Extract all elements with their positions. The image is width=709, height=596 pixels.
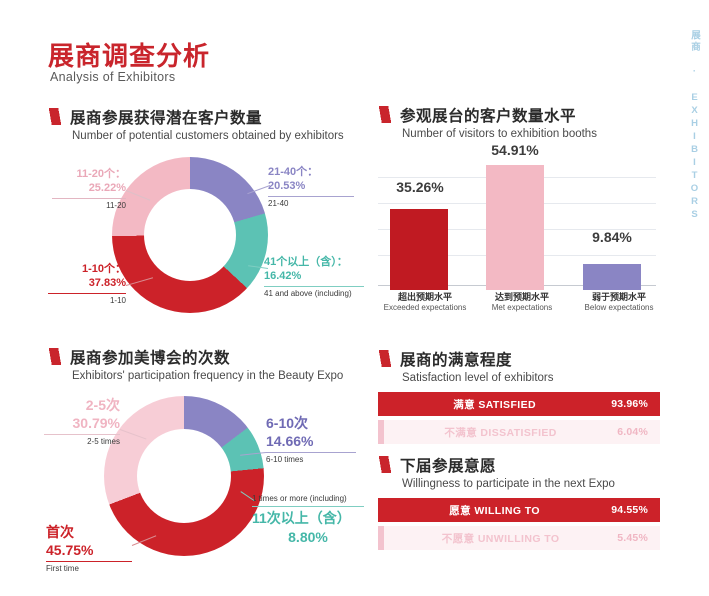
bar-value-met: 54.91% xyxy=(472,142,558,158)
section-title-en: Number of visitors to exhibition booths xyxy=(402,128,597,140)
callout-sublabel: 6-10 times xyxy=(266,455,356,465)
callout-category: 2-5次 xyxy=(44,396,120,414)
bar-value-below: 9.84% xyxy=(569,229,655,245)
side-vertical-label: 展商 · EXHIBITORS xyxy=(687,30,701,222)
infographic-page: 展商调查分析 Analysis of Exhibitors 展商 · EXHIB… xyxy=(0,0,709,596)
callout-value: 37.83% xyxy=(48,277,126,291)
callout-sublabel: 1 times or more (including) xyxy=(252,494,364,504)
hbar-pct-satisfied: 93.96% xyxy=(611,398,648,410)
bar-category-below: 弱于预期水平 Below expectations xyxy=(539,291,699,314)
callout-value: 8.80% xyxy=(252,528,364,546)
hbar-label-dissatisfied: 不满意 DISSATISFIED xyxy=(384,425,617,440)
bar-category-cn: 弱于预期水平 xyxy=(539,291,699,303)
section-title-cn: 参观展台的客户数量水平 xyxy=(400,104,576,126)
hbar-unwilling: 不愿意 UNWILLING TO 5.45% xyxy=(378,526,660,550)
slash-icon xyxy=(48,348,62,365)
slash-icon xyxy=(378,106,392,123)
callout-sublabel: 11-20 xyxy=(52,201,126,211)
section-title-cn: 展商的满意程度 xyxy=(400,348,512,370)
section-title-cn: 下届参展意愿 xyxy=(400,454,496,476)
hbar-dissatisfied: 不满意 DISSATISFIED 6.04% xyxy=(378,420,660,444)
bar-category-en: Below expectations xyxy=(539,303,699,313)
slash-icon xyxy=(378,350,392,367)
callout-value: 20.53% xyxy=(268,180,354,194)
slash-icon xyxy=(378,456,392,473)
hbar-fill-satisfied: 满意 SATISFIED 93.96% xyxy=(378,392,660,416)
section-title-en: Willingness to participate in the next E… xyxy=(402,478,615,490)
callout-value: 16.42% xyxy=(264,270,364,284)
callout-value: 25.22% xyxy=(52,182,126,196)
hbar-label-willing: 愿意 WILLING TO xyxy=(378,503,611,518)
callout-category: 1-10个 xyxy=(82,263,115,275)
donut-callout-1-10: 1-10个： 37.83% 1-10 xyxy=(48,263,126,306)
section-title-en: Number of potential customers obtained b… xyxy=(72,130,344,142)
callout-sublabel: First time xyxy=(46,564,132,574)
callout-category: 首次 xyxy=(46,523,132,541)
donut-callout-11-20: 11-20个： 25.22% 11-20 xyxy=(52,168,126,211)
callout-category: 11次以上（含） xyxy=(252,509,364,527)
callout-category: 41个以上（含） xyxy=(264,256,337,268)
callout-value: 14.66% xyxy=(266,432,356,450)
hbar-fill-willing: 愿意 WILLING TO 94.55% xyxy=(378,498,660,522)
hbar-pct-unwilling: 5.45% xyxy=(617,532,648,544)
callout-sublabel: 21-40 xyxy=(268,199,354,209)
hbar-fill-unwilling: 不愿意 UNWILLING TO 5.45% xyxy=(384,526,660,550)
section-title-en: Satisfaction level of exhibitors xyxy=(402,372,554,384)
section-title-en: Exhibitors' participation frequency in t… xyxy=(72,370,343,382)
hbar-satisfied: 满意 SATISFIED 93.96% xyxy=(378,392,660,416)
page-subtitle: Analysis of Exhibitors xyxy=(50,70,175,84)
section-title-cn: 展商参加美博会的次数 xyxy=(70,346,230,368)
callout-sublabel: 1-10 xyxy=(48,296,126,306)
donut-hole xyxy=(144,189,236,281)
callout-category: 6-10次 xyxy=(266,414,356,432)
donut-callout-6-10-times: 6-10次 14.66% 6-10 times xyxy=(266,414,356,466)
hbar-label-satisfied: 满意 SATISFIED xyxy=(378,397,611,412)
bar-met xyxy=(486,165,544,290)
donut-hole xyxy=(137,429,231,523)
donut-callout-21-40: 21-40个： 20.53% 21-40 xyxy=(268,166,354,209)
hbar-willing: 愿意 WILLING TO 94.55% xyxy=(378,498,660,522)
callout-category: 21-40个 xyxy=(268,166,307,178)
bar-below xyxy=(583,264,641,290)
section-title-cn: 展商参展获得潜在客户数量 xyxy=(70,106,262,128)
page-title: 展商调查分析 xyxy=(48,36,210,73)
bar-chart-booth-visitors: 35.26% 54.91% 9.84% xyxy=(378,155,656,290)
slash-icon xyxy=(48,108,62,125)
callout-value: 45.75% xyxy=(46,541,132,559)
bar-exceeded xyxy=(390,209,448,290)
donut-chart-potential-customers xyxy=(112,157,268,313)
callout-category: 11-20个 xyxy=(76,168,115,180)
donut-callout-2-5-times: 2-5次 30.79% 2-5 times xyxy=(44,396,120,448)
hbar-fill-dissatisfied: 不满意 DISSATISFIED 6.04% xyxy=(384,420,660,444)
hbar-pct-dissatisfied: 6.04% xyxy=(617,426,648,438)
donut-callout-first-time: 首次 45.75% First time xyxy=(46,523,132,575)
callout-value: 30.79% xyxy=(44,414,120,432)
hbar-pct-willing: 94.55% xyxy=(611,504,648,516)
bar-value-exceeded: 35.26% xyxy=(377,179,463,195)
donut-callout-11-times-or-more: 1 times or more (including) 11次以上（含） 8.8… xyxy=(252,494,364,546)
callout-sublabel: 2-5 times xyxy=(44,437,120,447)
hbar-label-unwilling: 不愿意 UNWILLING TO xyxy=(384,531,617,546)
